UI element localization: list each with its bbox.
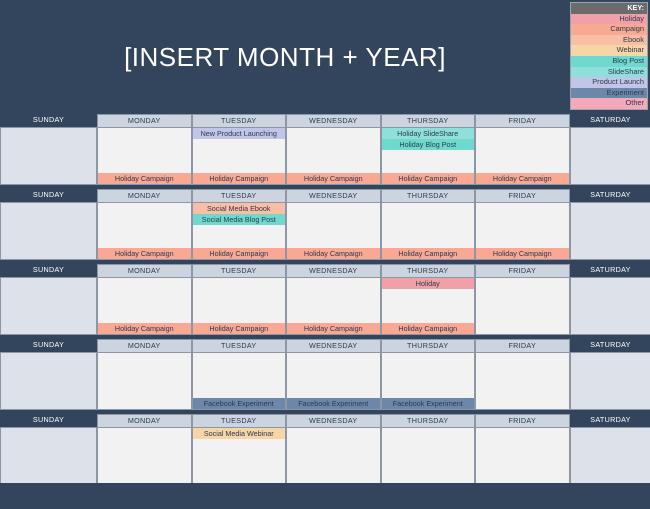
- day-cell-sunday[interactable]: [0, 277, 97, 335]
- legend-item-ebook: Ebook: [571, 35, 647, 46]
- calendar-grid: SUNDAYMONDAYTUESDAYWEDNESDAYTHURSDAYFRID…: [0, 114, 650, 489]
- day-header-monday: MONDAY: [97, 114, 192, 127]
- event-bar[interactable]: Holiday Campaign: [193, 173, 286, 184]
- day-header-monday: MONDAY: [97, 189, 192, 202]
- day-cells-row: Holiday CampaignHoliday CampaignHoliday …: [0, 277, 650, 335]
- event-bar[interactable]: Holiday Blog Post: [382, 139, 475, 150]
- day-cell-thursday[interactable]: HolidayHoliday Campaign: [381, 277, 476, 335]
- legend-item-holiday: Holiday: [571, 14, 647, 25]
- day-header-monday: MONDAY: [97, 339, 192, 352]
- day-header-friday: FRIDAY: [475, 189, 570, 202]
- day-cell-wednesday[interactable]: Holiday Campaign: [286, 127, 381, 185]
- legend-item-product-launch: Product Launch: [571, 77, 647, 88]
- day-header-saturday: SATURDAY: [570, 189, 650, 202]
- day-cell-tuesday[interactable]: Holiday Campaign: [192, 277, 287, 335]
- calendar-header: [INSERT MONTH + YEAR]: [0, 0, 570, 114]
- event-bar[interactable]: New Product Launching: [193, 128, 286, 139]
- event-bar[interactable]: Holiday Campaign: [287, 173, 380, 184]
- event-bar[interactable]: Facebook Experiment: [382, 398, 475, 409]
- calendar-week-1: SUNDAYMONDAYTUESDAYWEDNESDAYTHURSDAYFRID…: [0, 114, 650, 185]
- event-bar[interactable]: Holiday Campaign: [193, 323, 286, 334]
- day-cell-thursday[interactable]: Holiday SlideShareHoliday Blog PostHolid…: [381, 127, 476, 185]
- calendar-week-4: SUNDAYMONDAYTUESDAYWEDNESDAYTHURSDAYFRID…: [0, 339, 650, 410]
- calendar-week-3: SUNDAYMONDAYTUESDAYWEDNESDAYTHURSDAYFRID…: [0, 264, 650, 335]
- legend-key: KEY:HolidayCampaignEbookWebinarBlog Post…: [570, 2, 648, 110]
- day-cell-wednesday[interactable]: Holiday Campaign: [286, 202, 381, 260]
- day-header-saturday: SATURDAY: [570, 114, 650, 127]
- day-header-tuesday: TUESDAY: [192, 189, 287, 202]
- day-cell-sunday[interactable]: [0, 127, 97, 185]
- calendar-week-2: SUNDAYMONDAYTUESDAYWEDNESDAYTHURSDAYFRID…: [0, 189, 650, 260]
- editorial-calendar-page: [INSERT MONTH + YEAR] KEY:HolidayCampaig…: [0, 0, 650, 509]
- day-cell-thursday[interactable]: Facebook Experiment: [381, 352, 476, 410]
- day-cell-friday[interactable]: [475, 427, 570, 485]
- legend-item-blog-post: Blog Post: [571, 56, 647, 67]
- day-cell-thursday[interactable]: Holiday Campaign: [381, 202, 476, 260]
- day-header-saturday: SATURDAY: [570, 264, 650, 277]
- event-bar[interactable]: Holiday Campaign: [382, 173, 475, 184]
- day-header-monday: MONDAY: [97, 414, 192, 427]
- day-header-tuesday: TUESDAY: [192, 264, 287, 277]
- event-bar[interactable]: Holiday Campaign: [98, 173, 191, 184]
- day-cell-wednesday[interactable]: Facebook Experiment: [286, 352, 381, 410]
- day-cell-thursday[interactable]: [381, 427, 476, 485]
- day-header-wednesday: WEDNESDAY: [286, 189, 381, 202]
- day-header-thursday: THURSDAY: [381, 114, 476, 127]
- day-cells-row: Holiday CampaignNew Product LaunchingHol…: [0, 127, 650, 185]
- day-header-tuesday: TUESDAY: [192, 114, 287, 127]
- event-bar[interactable]: Holiday Campaign: [193, 248, 286, 259]
- day-header-saturday: SATURDAY: [570, 414, 650, 427]
- legend-item-other: Other: [571, 98, 647, 109]
- page-title: [INSERT MONTH + YEAR]: [124, 42, 446, 73]
- day-header-thursday: THURSDAY: [381, 339, 476, 352]
- day-cell-sunday[interactable]: [0, 352, 97, 410]
- event-bar[interactable]: Holiday Campaign: [287, 323, 380, 334]
- day-header-sunday: SUNDAY: [0, 264, 97, 277]
- day-cell-saturday[interactable]: [570, 277, 650, 335]
- day-cell-wednesday[interactable]: [286, 427, 381, 485]
- day-header-thursday: THURSDAY: [381, 189, 476, 202]
- legend-item-webinar: Webinar: [571, 45, 647, 56]
- event-bar[interactable]: Holiday Campaign: [287, 248, 380, 259]
- day-header-monday: MONDAY: [97, 264, 192, 277]
- day-cell-sunday[interactable]: [0, 427, 97, 485]
- day-header-wednesday: WEDNESDAY: [286, 414, 381, 427]
- day-header-row: SUNDAYMONDAYTUESDAYWEDNESDAYTHURSDAYFRID…: [0, 339, 650, 352]
- day-header-thursday: THURSDAY: [381, 414, 476, 427]
- day-cells-row: Holiday CampaignSocial Media EbookSocial…: [0, 202, 650, 260]
- legend-item-campaign: Campaign: [571, 24, 647, 35]
- day-header-friday: FRIDAY: [475, 264, 570, 277]
- day-header-row: SUNDAYMONDAYTUESDAYWEDNESDAYTHURSDAYFRID…: [0, 414, 650, 427]
- event-bar[interactable]: Holiday Campaign: [98, 248, 191, 259]
- day-cells-row: Facebook ExperimentFacebook ExperimentFa…: [0, 352, 650, 410]
- event-bar[interactable]: Holiday Campaign: [382, 323, 475, 334]
- event-bar[interactable]: Holiday Campaign: [476, 173, 569, 184]
- day-cell-friday[interactable]: [475, 277, 570, 335]
- legend-item-experiment: Experiment: [571, 88, 647, 99]
- day-cell-wednesday[interactable]: Holiday Campaign: [286, 277, 381, 335]
- day-cell-saturday[interactable]: [570, 427, 650, 485]
- day-header-friday: FRIDAY: [475, 414, 570, 427]
- day-cell-saturday[interactable]: [570, 202, 650, 260]
- day-cell-friday[interactable]: Holiday Campaign: [475, 127, 570, 185]
- day-header-friday: FRIDAY: [475, 339, 570, 352]
- footer-band: [0, 483, 650, 509]
- legend-title: KEY:: [571, 3, 647, 14]
- event-bar[interactable]: Holiday Campaign: [98, 323, 191, 334]
- calendar-week-5: SUNDAYMONDAYTUESDAYWEDNESDAYTHURSDAYFRID…: [0, 414, 650, 485]
- day-cell-saturday[interactable]: [570, 127, 650, 185]
- event-bar[interactable]: Facebook Experiment: [287, 398, 380, 409]
- day-cells-row: Social Media Webinar: [0, 427, 650, 485]
- day-cell-monday[interactable]: Holiday Campaign: [97, 127, 192, 185]
- day-cell-tuesday[interactable]: Social Media EbookSocial Media Blog Post…: [192, 202, 287, 260]
- day-cell-tuesday[interactable]: Social Media Webinar: [192, 427, 287, 485]
- event-bar[interactable]: Holiday Campaign: [476, 248, 569, 259]
- event-bar[interactable]: Social Media Webinar: [193, 428, 286, 439]
- event-bar[interactable]: Holiday Campaign: [382, 248, 475, 259]
- day-cell-sunday[interactable]: [0, 202, 97, 260]
- event-bar[interactable]: Holiday: [382, 278, 475, 289]
- day-header-sunday: SUNDAY: [0, 414, 97, 427]
- day-header-sunday: SUNDAY: [0, 189, 97, 202]
- day-header-wednesday: WEDNESDAY: [286, 264, 381, 277]
- day-header-tuesday: TUESDAY: [192, 339, 287, 352]
- day-header-friday: FRIDAY: [475, 114, 570, 127]
- day-cell-monday[interactable]: Holiday Campaign: [97, 277, 192, 335]
- event-bar[interactable]: Social Media Ebook: [193, 203, 286, 214]
- day-cell-tuesday[interactable]: Facebook Experiment: [192, 352, 287, 410]
- day-cell-tuesday[interactable]: New Product LaunchingHoliday Campaign: [192, 127, 287, 185]
- event-bar[interactable]: Social Media Blog Post: [193, 214, 286, 225]
- day-header-row: SUNDAYMONDAYTUESDAYWEDNESDAYTHURSDAYFRID…: [0, 189, 650, 202]
- day-header-sunday: SUNDAY: [0, 114, 97, 127]
- day-header-wednesday: WEDNESDAY: [286, 339, 381, 352]
- day-cell-friday[interactable]: [475, 352, 570, 410]
- day-cell-monday[interactable]: [97, 427, 192, 485]
- day-header-sunday: SUNDAY: [0, 339, 97, 352]
- day-cell-saturday[interactable]: [570, 352, 650, 410]
- event-bar[interactable]: Facebook Experiment: [193, 398, 286, 409]
- day-header-tuesday: TUESDAY: [192, 414, 287, 427]
- day-header-row: SUNDAYMONDAYTUESDAYWEDNESDAYTHURSDAYFRID…: [0, 264, 650, 277]
- day-header-wednesday: WEDNESDAY: [286, 114, 381, 127]
- day-header-row: SUNDAYMONDAYTUESDAYWEDNESDAYTHURSDAYFRID…: [0, 114, 650, 127]
- event-bar[interactable]: Holiday SlideShare: [382, 128, 475, 139]
- day-cell-monday[interactable]: [97, 352, 192, 410]
- legend-item-slideshare: SlideShare: [571, 67, 647, 78]
- day-cell-friday[interactable]: Holiday Campaign: [475, 202, 570, 260]
- day-header-thursday: THURSDAY: [381, 264, 476, 277]
- day-header-saturday: SATURDAY: [570, 339, 650, 352]
- day-cell-monday[interactable]: Holiday Campaign: [97, 202, 192, 260]
